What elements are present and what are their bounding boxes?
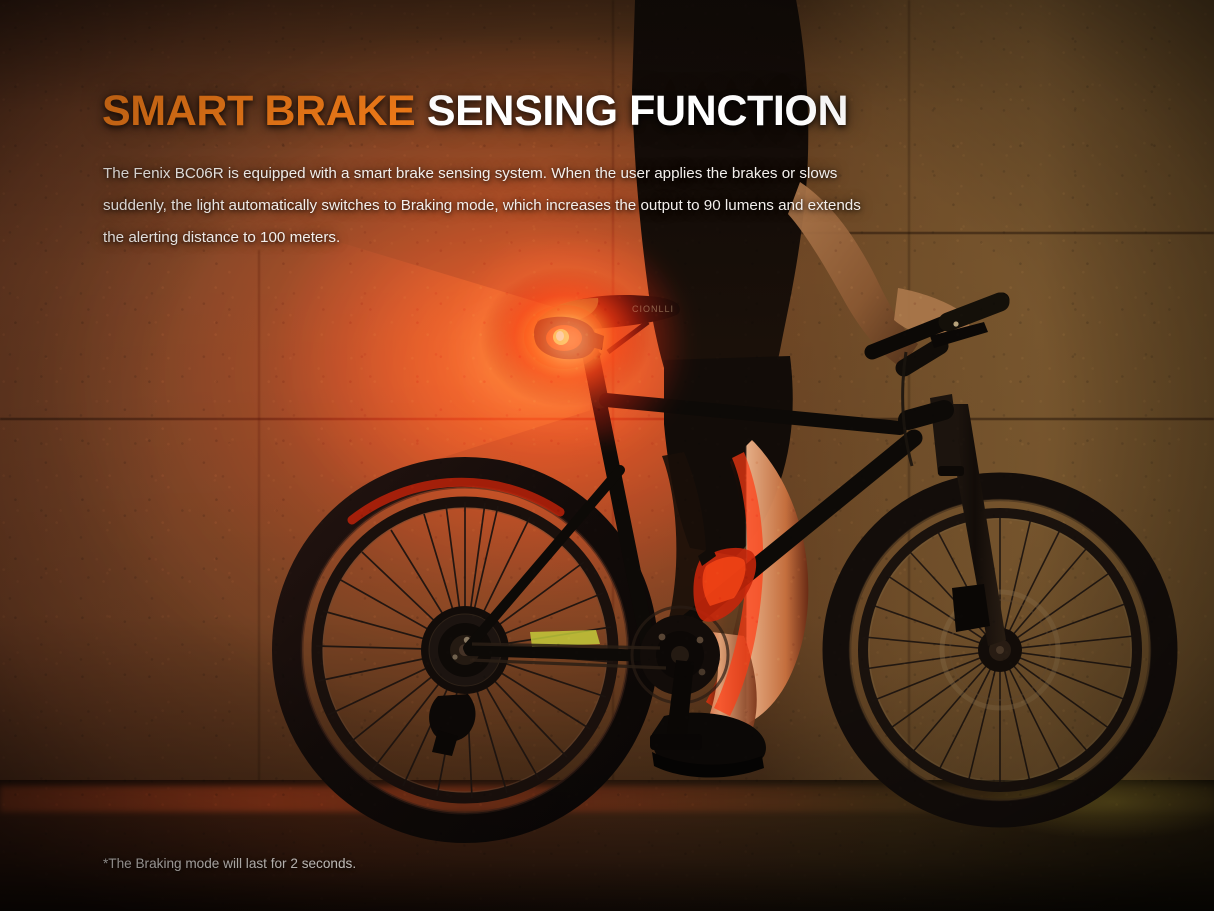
headline-plain-text: SENSING FUNCTION bbox=[427, 87, 848, 135]
headline-accent-text: SMART BRAKE bbox=[102, 87, 415, 135]
feature-description: The Fenix BC06R is equipped with a smart… bbox=[103, 158, 865, 254]
page-title: SMART BRAKE SENSING FUNCTION bbox=[102, 90, 848, 133]
product-feature-banner: CIONLLI bbox=[0, 0, 1214, 911]
footnote-text: *The Braking mode will last for 2 second… bbox=[103, 855, 356, 873]
concrete-grain-texture bbox=[0, 0, 1214, 911]
